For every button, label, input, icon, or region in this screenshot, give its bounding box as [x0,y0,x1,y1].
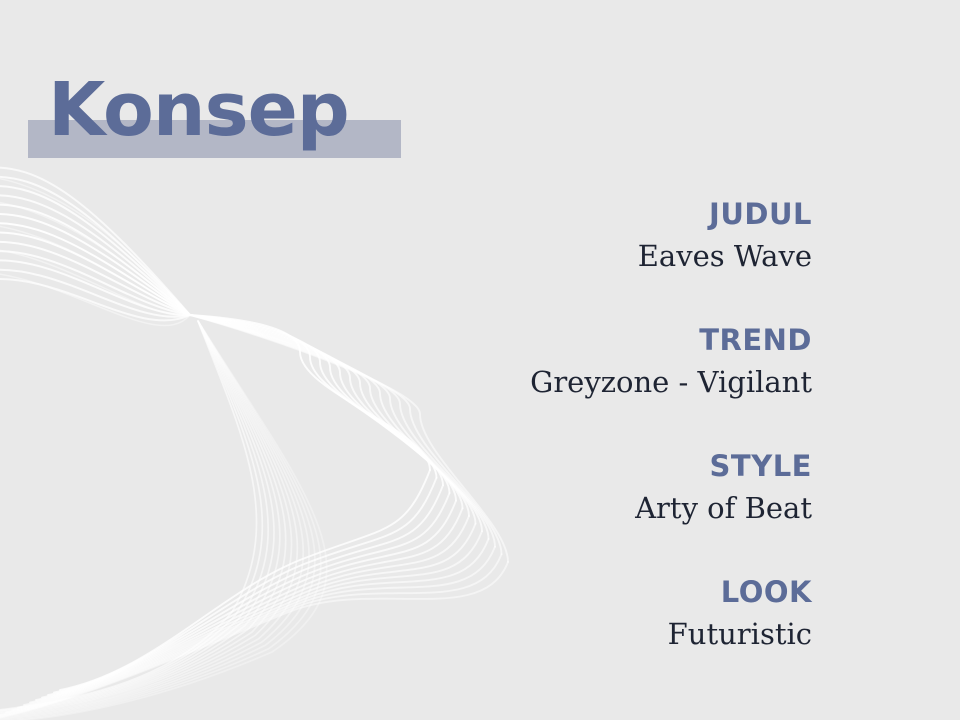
detail-label-trend: TREND [392,322,812,358]
detail-label-judul: JUDUL [392,196,812,232]
detail-value-judul: Eaves Wave [392,238,812,274]
detail-value-style: Arty of Beat [392,490,812,526]
detail-label-look: LOOK [392,574,812,610]
title-label: Konsep [48,62,349,158]
detail-value-trend: Greyzone - Vigilant [392,364,812,400]
detail-item-look: LOOK Futuristic [392,574,812,652]
detail-label-style: STYLE [392,448,812,484]
detail-value-look: Futuristic [392,616,812,652]
detail-item-style: STYLE Arty of Beat [392,448,812,526]
slide-canvas: Konsep JUDUL Eaves Wave TREND Greyzone -… [0,0,960,720]
detail-list: JUDUL Eaves Wave TREND Greyzone - Vigila… [392,196,812,652]
page-title: Konsep [28,62,548,172]
detail-item-trend: TREND Greyzone - Vigilant [392,322,812,400]
detail-item-judul: JUDUL Eaves Wave [392,196,812,274]
